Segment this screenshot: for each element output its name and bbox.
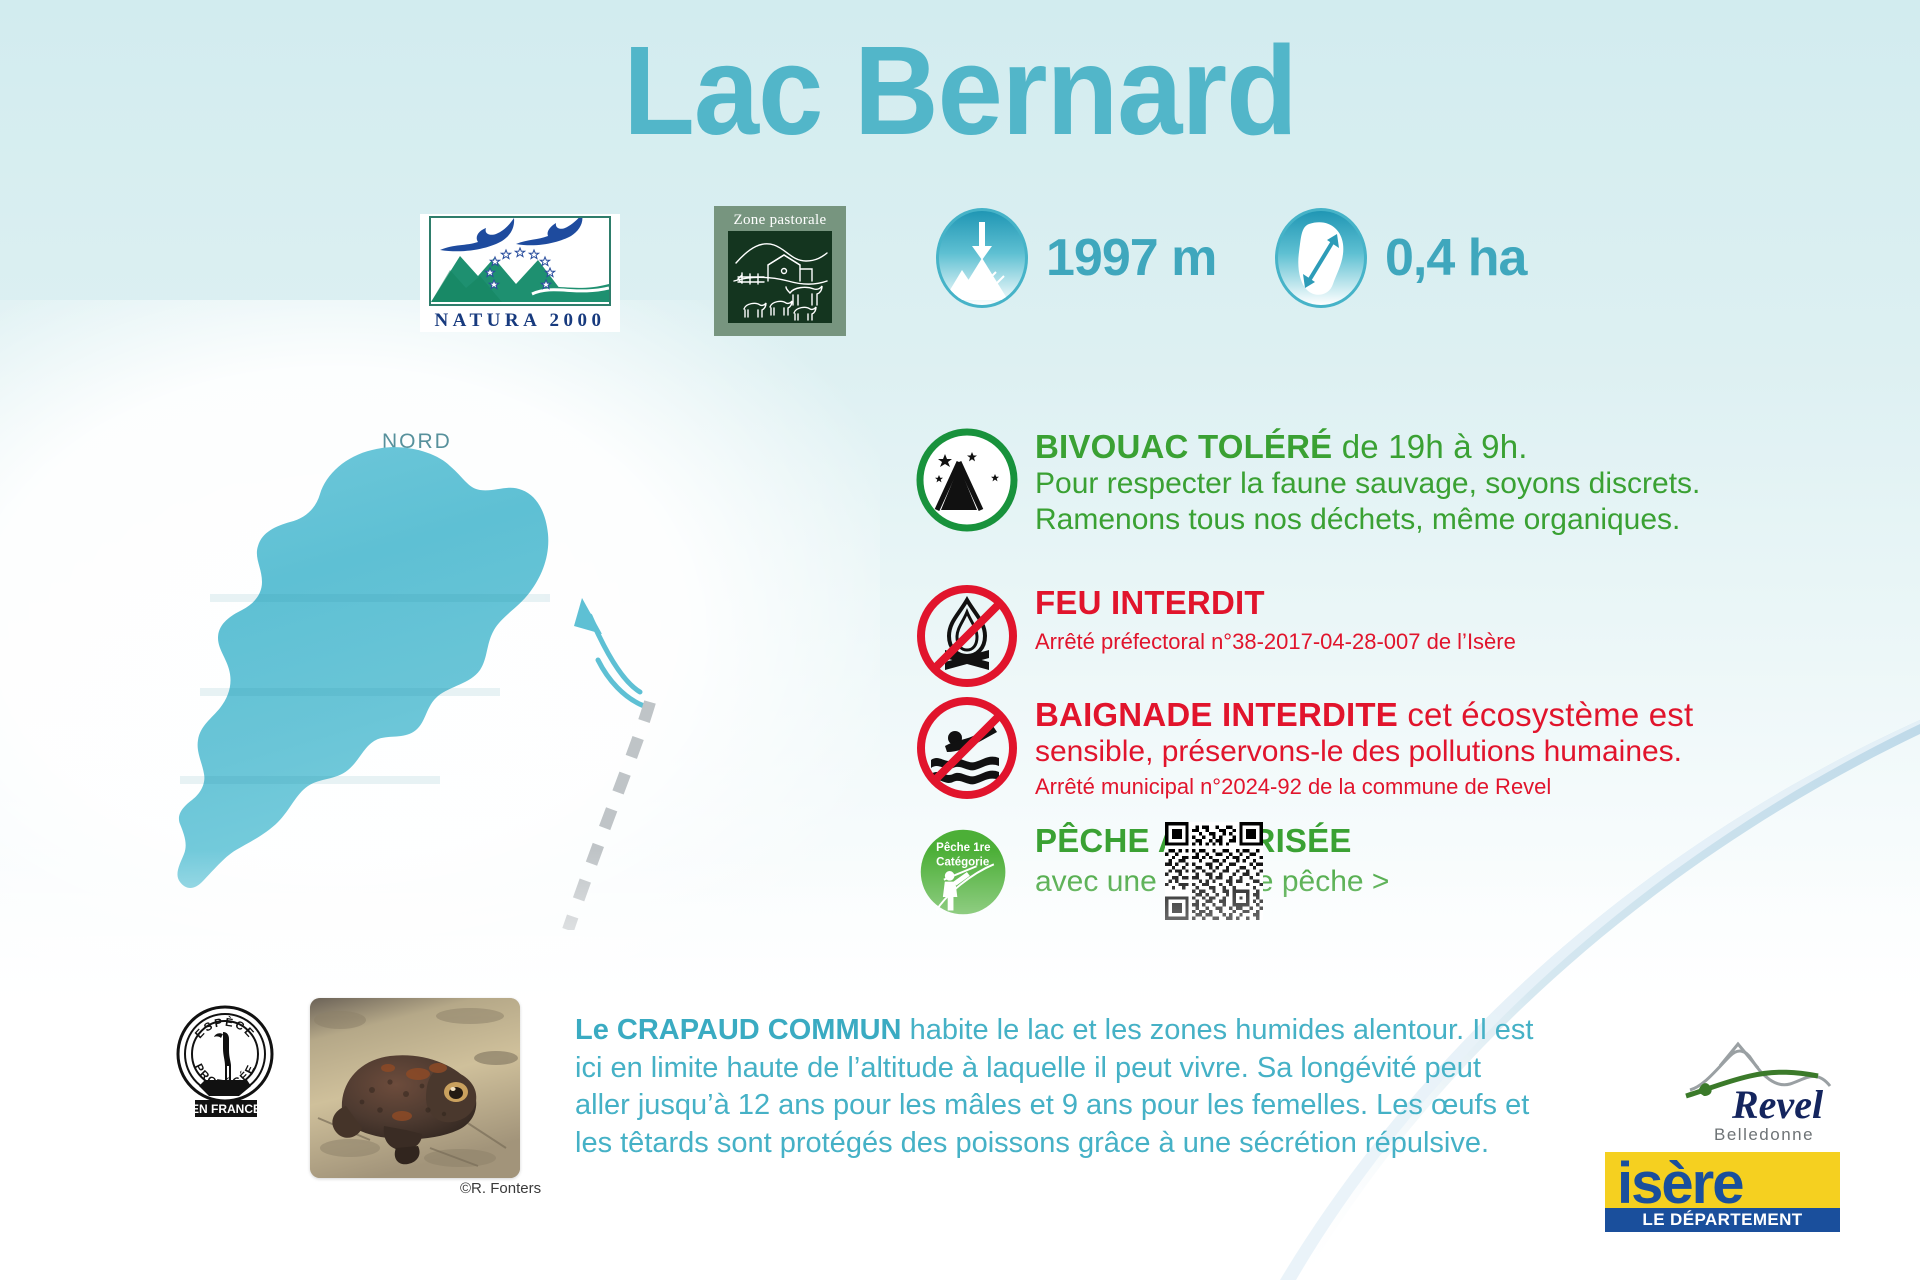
- pasture-scene-icon: [728, 231, 832, 323]
- belledonne-wordmark: Belledonne: [1714, 1125, 1814, 1144]
- rule-baignade-heading: BAIGNADE INTERDITE cet écosystème est: [1035, 696, 1865, 734]
- isere-subtitle: LE DÉPARTEMENT: [1605, 1208, 1840, 1232]
- area-value: 0,4 ha: [1385, 228, 1526, 288]
- espece-protegee-icon: ESPÈCE PROTÉGÉE EN FRANCE: [165, 1000, 285, 1120]
- species-description: Le CRAPAUD COMMUN habite le lac et les z…: [575, 1012, 1535, 1163]
- page-title: Lac Bernard: [67, 28, 1853, 154]
- no-fire-icon: [915, 584, 1019, 688]
- rule-baignade-heading-strong: BAIGNADE INTERDITE: [1035, 696, 1398, 733]
- lake-map: NORD: [150, 430, 870, 930]
- rule-peche: Pêche 1re Catégorie PÊCHE AUTORISÉE avec: [915, 822, 1865, 926]
- no-swimming-icon: [915, 696, 1019, 800]
- altitude-value: 1997 m: [1046, 228, 1216, 288]
- revel-wordmark: Revel: [1731, 1082, 1824, 1127]
- rule-bivouac-heading-rest: de 19h à 9h.: [1332, 428, 1527, 465]
- isere-wordmark: isère: [1617, 1150, 1742, 1217]
- stream-arrow-head: [574, 598, 602, 634]
- rule-peche-heading: PÊCHE AUTORISÉE: [1035, 822, 1865, 860]
- rule-baignade-heading-rest: cet écosystème est: [1398, 696, 1693, 733]
- rule-bivouac-line2: Pour respecter la faune sauvage, soyons …: [1035, 466, 1865, 502]
- rule-feu-note: Arrêté préfectoral n°38-2017-04-28-007 d…: [1035, 628, 1865, 656]
- mountain-altitude-icon: [936, 208, 1028, 308]
- rule-bivouac-heading-strong: BIVOUAC TOLÉRÉ: [1035, 428, 1332, 465]
- common-toad-photo: [310, 998, 520, 1178]
- zone-pastorale-sign: Zone pastorale: [714, 206, 846, 336]
- lake-area-icon: [1275, 208, 1367, 308]
- photo-credit: ©R. Fonters: [460, 1180, 541, 1197]
- rule-feu: FEU INTERDIT Arrêté préfectoral n°38-201…: [915, 584, 1865, 690]
- rule-baignade: BAIGNADE INTERDITE cet écosystème est se…: [915, 696, 1865, 816]
- tent-moon-stars-icon: [915, 428, 1019, 532]
- rule-peche-line2: avec une carte de pêche >: [1035, 864, 1865, 900]
- natura2000-logo: NATURA 2000: [420, 214, 620, 332]
- natura-artwork-icon: [420, 214, 620, 306]
- rules-list: BIVOUAC TOLÉRÉ de 19h à 9h. Pour respect…: [915, 428, 1865, 932]
- species-name: Le CRAPAUD COMMUN: [575, 1014, 902, 1046]
- zone-pastorale-pictogram: [728, 231, 832, 323]
- qr-code[interactable]: [1165, 822, 1263, 920]
- rule-feu-heading: FEU INTERDIT: [1035, 584, 1865, 622]
- rule-baignade-line2: sensible, préservons-le des pollutions h…: [1035, 734, 1865, 770]
- peche-icon-label-line2: Catégorie: [936, 856, 990, 868]
- altitude-badge: 1997 m: [936, 208, 1216, 308]
- peche-icon-label-line1: Pêche 1re: [936, 842, 991, 854]
- isere-departement-logo: isère LE DÉPARTEMENT: [1605, 1152, 1840, 1230]
- rule-bivouac-heading: BIVOUAC TOLÉRÉ de 19h à 9h.: [1035, 428, 1865, 466]
- fishing-allowed-icon: Pêche 1re Catégorie: [915, 822, 1019, 926]
- rule-bivouac-line3: Ramenons tous nos déchets, même organiqu…: [1035, 502, 1865, 538]
- badge-row: NATURA 2000 Zone pastorale: [0, 196, 1920, 336]
- rule-baignade-note: Arrêté municipal n°2024-92 de la commune…: [1035, 773, 1865, 801]
- rule-bivouac: BIVOUAC TOLÉRÉ de 19h à 9h. Pour respect…: [915, 428, 1865, 578]
- natura-wordmark: NATURA 2000: [420, 310, 620, 332]
- dashed-trail-path: [568, 702, 650, 930]
- lake-shape: [150, 430, 870, 930]
- poster-root: Lac Bernard: [0, 0, 1920, 1280]
- espece-banner-text: EN FRANCE: [191, 1102, 261, 1116]
- zone-pastorale-label: Zone pastorale: [734, 212, 827, 229]
- area-badge: 0,4 ha: [1275, 208, 1526, 308]
- revel-belledonne-logo: Revel Belledonne: [1680, 1030, 1840, 1150]
